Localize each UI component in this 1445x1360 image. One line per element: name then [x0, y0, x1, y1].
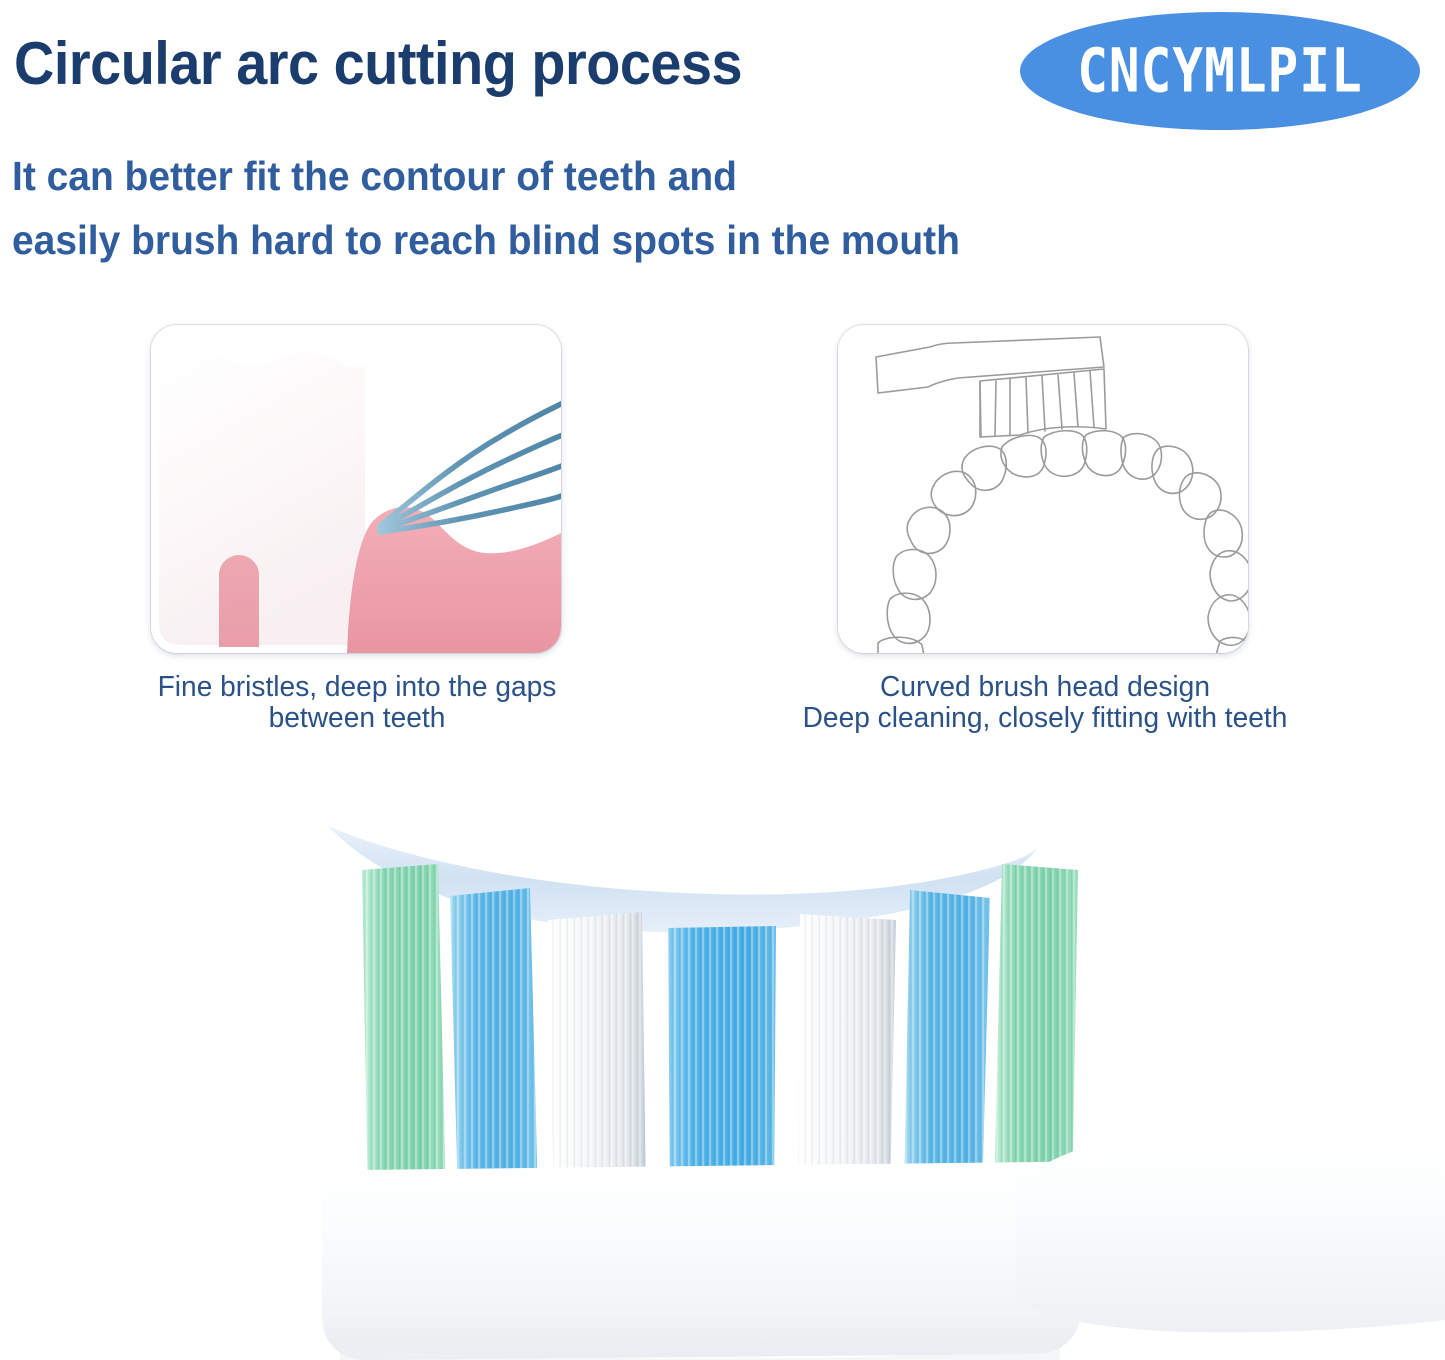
- toothbrush-svg: [0, 800, 1445, 1360]
- subtitle-line-2: easily brush hard to reach blind spots i…: [12, 220, 960, 261]
- caption-fine-bristles: Fine bristles, deep into the gaps betwee…: [105, 672, 609, 733]
- caption-line-2: Deep cleaning, closely fitting with teet…: [751, 703, 1339, 734]
- caption-line-1: Curved brush head design: [751, 672, 1339, 703]
- bristle-tuft-3-white: [540, 905, 660, 1210]
- product-photo-toothbrush-head: [0, 800, 1445, 1360]
- panel-curved-brush-head: [838, 325, 1248, 653]
- caption-curved-brush-head: Curved brush head design Deep cleaning, …: [751, 672, 1339, 733]
- dental-arch-illustration: [838, 325, 1248, 653]
- brush-head-body: [322, 1162, 1080, 1360]
- brand-logo: CNCYMLPIL: [1020, 12, 1420, 130]
- caption-line-1: Fine bristles, deep into the gaps: [105, 672, 609, 703]
- caption-line-2: between teeth: [105, 703, 609, 734]
- bristle-tuft-4-blue-center: [660, 915, 790, 1205]
- panel-fine-bristles: [151, 325, 561, 653]
- tooth-shape: [159, 353, 365, 645]
- tooth-gum-bristles-illustration: [151, 325, 561, 653]
- brand-logo-text: CNCYMLPIL: [1077, 36, 1363, 107]
- tooth-root-shape: [219, 555, 259, 647]
- subtitle-line-1: It can better fit the contour of teeth a…: [12, 156, 737, 197]
- page-title: Circular arc cutting process: [14, 34, 742, 94]
